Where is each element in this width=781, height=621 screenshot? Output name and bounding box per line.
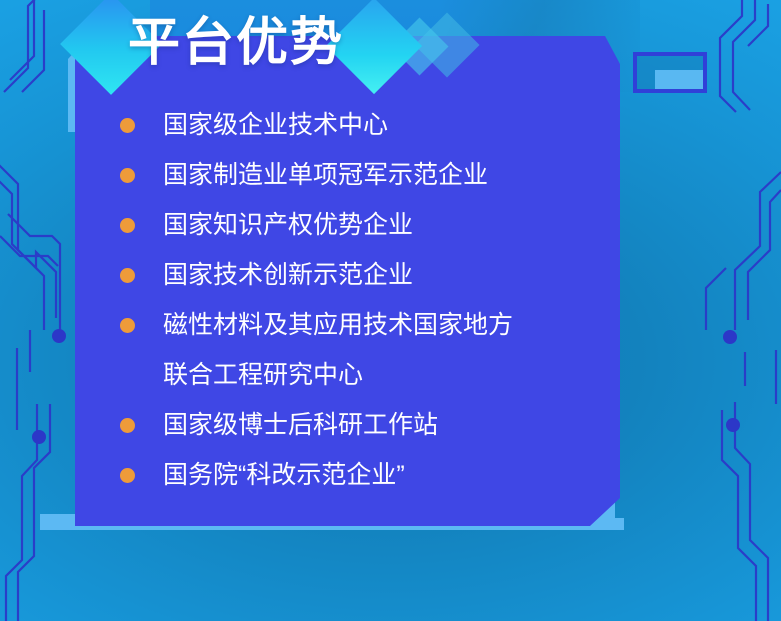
- list-item: 国家制造业单项冠军示范企业: [120, 150, 620, 200]
- list-item-label: 国家级企业技术中心: [163, 100, 620, 150]
- list-item: 国家技术创新示范企业: [120, 250, 620, 300]
- list-item-label: 国家制造业单项冠军示范企业: [163, 150, 620, 200]
- bullet-icon: [120, 168, 135, 183]
- list-item-label: 国务院“科改示范企业”: [163, 450, 620, 500]
- bullet-icon: [120, 318, 135, 333]
- bullet-icon: [120, 468, 135, 483]
- list-item-label-continued: 联合工程研究中心: [163, 350, 620, 400]
- header: 平台优势: [0, 0, 781, 100]
- bullet-icon: [120, 118, 135, 133]
- bullet-icon: [120, 218, 135, 233]
- bullet-icon: [120, 418, 135, 433]
- page-title: 平台优势: [128, 6, 344, 80]
- list-item-label: 国家技术创新示范企业: [163, 250, 620, 300]
- advantage-list: 国家级企业技术中心 国家制造业单项冠军示范企业 国家知识产权优势企业 国家技术创…: [120, 100, 620, 500]
- list-item-label: 国家知识产权优势企业: [163, 200, 620, 250]
- list-item: 国家知识产权优势企业: [120, 200, 620, 250]
- list-item: 国家级企业技术中心: [120, 100, 620, 150]
- list-item: 国务院“科改示范企业”: [120, 450, 620, 500]
- bullet-icon: [120, 268, 135, 283]
- slide-canvas: 平台优势 国家级企业技术中心 国家制造业单项冠军示范企业 国家知识产权优势企业 …: [0, 0, 781, 621]
- list-item-label: 国家级博士后科研工作站: [163, 400, 620, 450]
- list-item-label: 磁性材料及其应用技术国家地方: [163, 300, 620, 350]
- list-item: 国家级博士后科研工作站: [120, 400, 620, 450]
- list-item: 磁性材料及其应用技术国家地方 联合工程研究中心: [120, 300, 620, 400]
